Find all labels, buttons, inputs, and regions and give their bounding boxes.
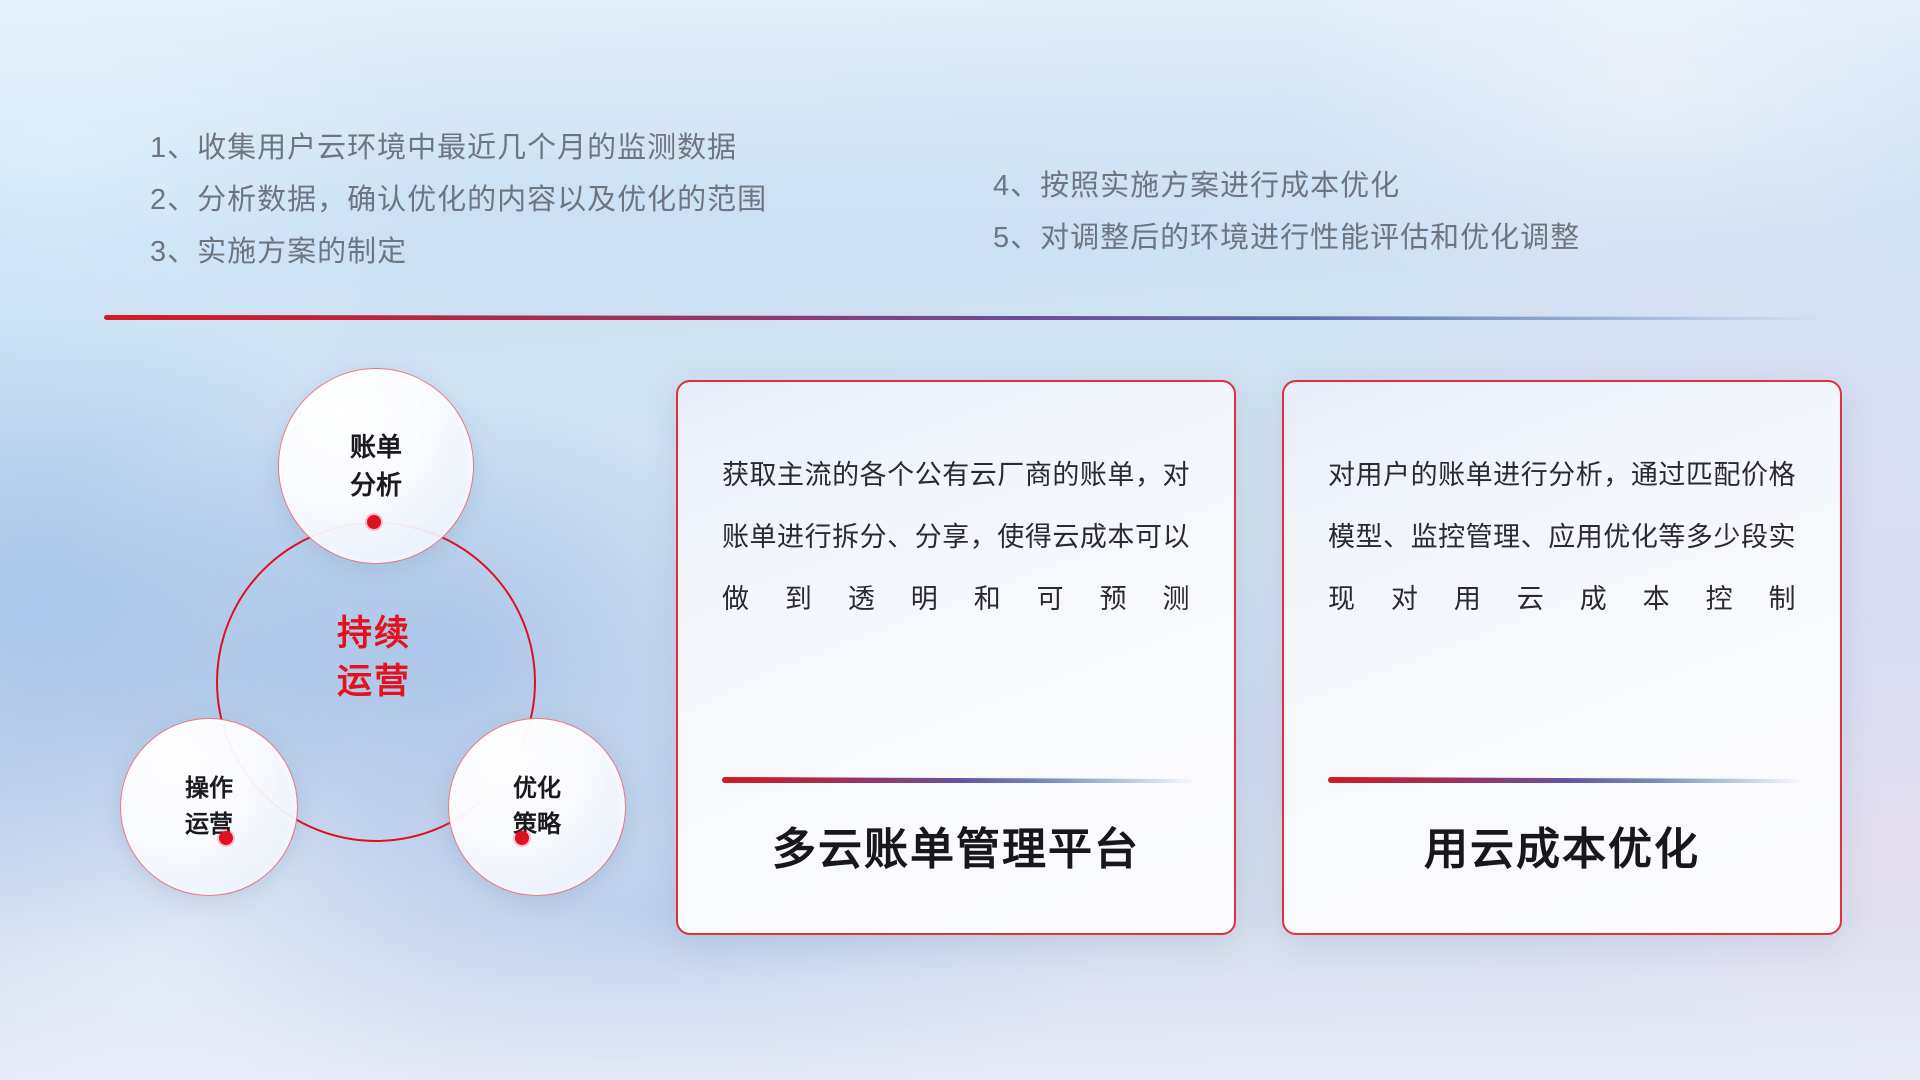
card-2-body-text: 对用户的账单进行分析，通过匹配价格模型、监控管理、应用优化等多少段实现对用云成本…	[1328, 444, 1796, 630]
slide-stage: 1、收集用户云环境中最近几个月的监测数据 2、分析数据，确认优化的内容以及优化的…	[0, 0, 1920, 1080]
diagram-bubble-optimization-strategy[interactable]: 优化 策略	[448, 718, 626, 896]
bubble-top-line-2: 分析	[350, 466, 402, 504]
step-item-4: 4、按照实施方案进行成本优化	[993, 160, 1580, 212]
content-card-cost-optimization[interactable]: 对用户的账单进行分析，通过匹配价格模型、监控管理、应用优化等多少段实现对用云成本…	[1282, 380, 1842, 935]
diagram-center-line-1: 持续	[272, 610, 476, 658]
card-1-title: 多云账单管理平台	[678, 813, 1234, 877]
bubble-left-line-1: 操作	[185, 771, 233, 807]
diagram-center-line-2: 运营	[272, 658, 476, 706]
diagram-center-label: 持续 运营	[272, 610, 476, 706]
bubble-top-line-1: 账单	[350, 428, 402, 466]
card-1-body-text: 获取主流的各个公有云厂商的账单，对账单进行拆分、分享，使得云成本可以做到透明和可…	[722, 444, 1190, 630]
step-item-5: 5、对调整后的环境进行性能评估和优化调整	[993, 212, 1580, 264]
card-2-title: 用云成本优化	[1284, 813, 1840, 877]
diagram-connector-dot-top	[367, 515, 381, 529]
card-2-accent-rule	[1328, 777, 1800, 783]
diagram-bubble-operations[interactable]: 操作 运营	[120, 718, 298, 896]
content-card-multicloud-billing[interactable]: 获取主流的各个公有云厂商的账单，对账单进行拆分、分享，使得云成本可以做到透明和可…	[676, 380, 1236, 935]
diagram-bubble-billing-analysis[interactable]: 账单 分析	[278, 368, 474, 564]
section-divider-rule	[104, 315, 1824, 320]
step-item-3: 3、实施方案的制定	[150, 226, 767, 278]
bubble-right-line-1: 优化	[513, 771, 561, 807]
diagram-connector-dot-left	[219, 831, 233, 845]
diagram-connector-dot-right	[515, 831, 529, 845]
step-item-1: 1、收集用户云环境中最近几个月的监测数据	[150, 122, 767, 174]
circle-diagram: 账单 分析 操作 运营 优化 策略 持续 运营	[96, 352, 656, 952]
card-1-accent-rule	[722, 777, 1194, 783]
step-item-2: 2、分析数据，确认优化的内容以及优化的范围	[150, 174, 767, 226]
steps-list-left: 1、收集用户云环境中最近几个月的监测数据 2、分析数据，确认优化的内容以及优化的…	[150, 122, 767, 278]
steps-list-right: 4、按照实施方案进行成本优化 5、对调整后的环境进行性能评估和优化调整	[993, 160, 1580, 264]
